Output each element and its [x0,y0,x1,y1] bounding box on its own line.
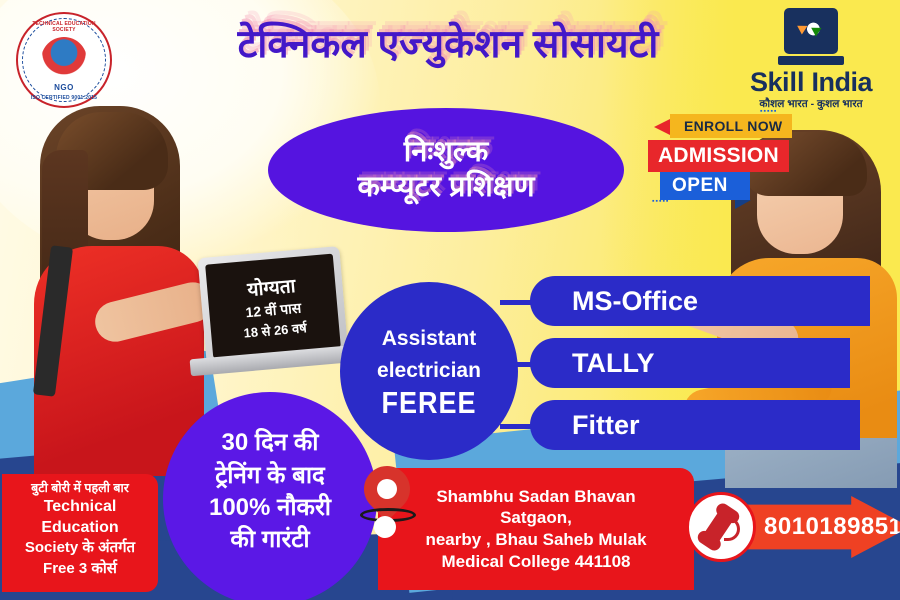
badge-admission: ADMISSION [648,140,789,172]
laptop-eligibility: योग्यता 12 वीं पास 18 से 26 वर्ष [196,252,352,382]
left-info-line-2: Technical [8,497,152,518]
course-item-fitter[interactable]: Fitter [530,400,860,450]
phone-number[interactable]: 8010189851 [764,513,900,541]
ngo-logo-arc-bottom: ISO CERTIFIED 9001:2015 [23,95,105,101]
address-line-3: nearby , Bhau Saheb Mulak [425,529,646,551]
guarantee-line-4: की गारंटी [230,524,309,556]
left-info-line-1: बुटी बोरी में पहली बार [8,480,152,497]
course-item-label: TALLY [572,348,655,379]
eligibility-title: योग्यता [246,272,296,302]
skill-india-wordmark: Skill India [736,68,886,96]
eligibility-screen: योग्यता 12 वीं पास 18 से 26 वर्ष [205,254,341,359]
skill-india-brand-last: India [805,67,873,97]
photo-woman-with-laptop [6,96,221,476]
course-hub-line-1: Assistant [382,323,477,355]
ngo-logo: TECHNICAL EDUCATION SOCIETY NGO ISO CERT… [16,12,112,108]
course-hub-circle: Assistant electrician FEREE [340,282,518,460]
job-guarantee-circle: 30 दिन की ट्रेनिंग के बाद 100% नौकरी की … [163,392,377,600]
monitor-icon [784,8,838,54]
address-line-2: Satgaon, [500,507,572,529]
course-hub-line-2: electrician [377,355,481,387]
badge-open: OPEN [660,172,750,200]
free-training-line-1: निःशुल्क [404,136,489,169]
address-block: Shambhu Sadan Bhavan Satgaon, nearby , B… [378,468,694,590]
course-item-ms-office[interactable]: MS-Office [530,276,870,326]
guarantee-line-2: ट्रेनिंग के बाद [215,460,325,492]
megaphone-icon [654,119,670,135]
ngo-logo-arc-top: TECHNICAL EDUCATION SOCIETY [23,21,105,33]
admission-open-badge: ▪▪▪▪▪ ENROLL NOW ADMISSION OPEN ▪▪▪▪▪ [648,114,808,202]
ngo-logo-center-label: NGO [23,83,105,92]
address-line-1: Shambhu Sadan Bhavan [436,486,635,508]
course-item-label: Fitter [572,410,640,441]
phone-icon [686,492,756,562]
left-info-line-4: Society के अंतर्गत [8,538,152,558]
left-info-box: बुटी बोरी में पहली बार Technical Educati… [2,474,158,592]
badge-enroll-now: ENROLL NOW [670,114,792,138]
skill-india-brand-first: Sk [750,67,782,97]
guarantee-line-3: 100% नौकरी [209,492,331,524]
keyboard-icon [778,56,844,65]
free-training-line-2: कम्प्यूटर प्रशिक्षण [357,171,534,204]
poster-canvas: TECHNICAL EDUCATION SOCIETY NGO ISO CERT… [0,0,900,600]
skill-india-brand-bars: ill [782,67,805,97]
left-info-line-5: Free 3 कोर्स [8,559,152,579]
free-training-banner: निःशुल्क कम्प्यूटर प्रशिक्षण [268,108,624,232]
left-info-line-3: Education [8,518,152,539]
course-item-label: MS-Office [572,286,698,317]
skill-india-logo: Skill India कौशल भारत - कुशल भारत [736,8,886,111]
page-title: टेक्निकल एज्युकेशन सोसायटी [168,24,728,67]
course-item-tally[interactable]: TALLY [530,338,850,388]
address-line-4: Medical College 441108 [442,551,631,573]
skill-india-tagline: कौशल भारत - कुशल भारत [736,97,886,111]
course-hub-free-label: FEREE [381,386,476,421]
decor-dots-bottom: ▪▪▪▪▪ [652,198,669,205]
location-pin-icon [360,464,416,540]
guarantee-line-1: 30 दिन की [222,427,319,459]
